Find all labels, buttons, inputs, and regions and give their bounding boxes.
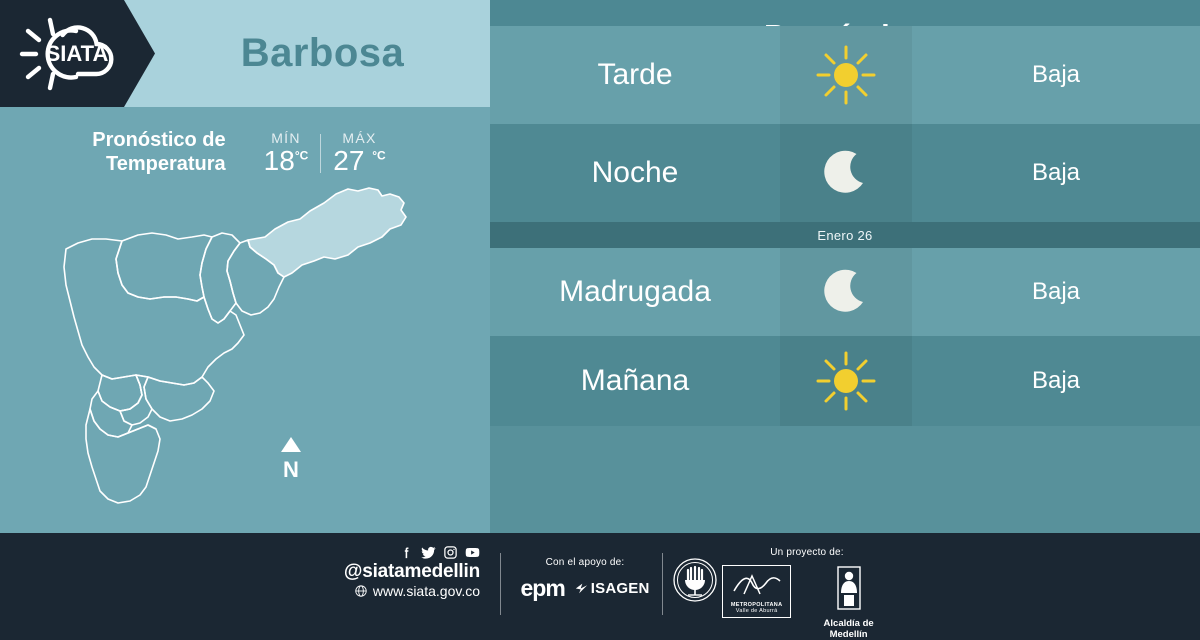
- forecast-period: Tarde: [490, 58, 780, 92]
- amva-caption-2: Valle de Aburrá: [727, 608, 786, 614]
- date-band-day2: Enero 26: [490, 222, 1200, 248]
- footer: @siatamedellin www.siata.gov.co Con el a…: [0, 533, 1200, 630]
- forecast-row[interactable]: Noche Baja: [490, 124, 1200, 222]
- instagram-icon[interactable]: [443, 545, 458, 560]
- siata-logo-text: SIATA: [46, 41, 109, 66]
- map-region-caldas[interactable]: [86, 409, 160, 503]
- support-block: Con el apoyo de: epm ISAGEN: [510, 557, 660, 602]
- amva-signature-icon: [730, 571, 784, 597]
- twitter-icon[interactable]: [421, 545, 436, 560]
- forecast-icon-cell: [780, 248, 912, 336]
- support-caption: Con el apoyo de:: [510, 557, 660, 568]
- isagen-mark-icon: [575, 582, 588, 595]
- moon-icon: [818, 264, 874, 320]
- project-caption: Un proyecto de:: [722, 547, 892, 558]
- north-arrow-icon: N: [274, 435, 308, 481]
- temperature-title-line2: Temperatura: [92, 152, 225, 176]
- map-region-sabaneta[interactable]: [120, 375, 152, 425]
- forecast-probability: Baja: [912, 278, 1200, 306]
- forecast-row[interactable]: Tarde Baja: [490, 26, 1200, 124]
- temperature-max-value: 27 °C: [333, 147, 385, 175]
- weather-forecast-poster: SIATA Barbosa Pronóstico de Temperatura …: [0, 0, 1200, 630]
- globe-icon: [354, 584, 368, 598]
- forecast-probability: Baja: [912, 159, 1200, 187]
- website-text: www.siata.gov.co: [373, 583, 480, 600]
- sun-cloud-icon: SIATA: [14, 14, 140, 94]
- alcaldia-logo: Alcaldía de Medellín: [805, 565, 892, 640]
- aburra-valley-map: [52, 177, 442, 527]
- temperature-values: MÍN 18°C MÁX 27 °C: [252, 130, 398, 175]
- temperature-max-unit: °C: [372, 148, 385, 162]
- temperature-max: MÁX 27 °C: [321, 130, 397, 175]
- support-logos: epm ISAGEN: [510, 575, 660, 602]
- forecast-period: Madrugada: [490, 275, 780, 309]
- website-link[interactable]: www.siata.gov.co: [330, 583, 480, 600]
- forecast-probability: Baja: [912, 61, 1200, 89]
- footer-divider-1: [500, 553, 501, 615]
- moon-icon: [818, 145, 874, 201]
- social-icons: [330, 545, 480, 560]
- temperature-max-label: MÁX: [342, 130, 376, 146]
- left-panel: SIATA Barbosa Pronóstico de Temperatura …: [0, 0, 490, 533]
- project-block: Un proyecto de: METROPOLITANA Valle de A…: [722, 547, 892, 640]
- precipitation-panel: Pronósticode Precipitación Enero 25 Tard…: [490, 0, 1200, 533]
- temperature-min-value: 18°C: [264, 147, 309, 175]
- epm-logo: epm: [520, 575, 564, 602]
- page-title: Barbosa: [155, 0, 490, 107]
- brand-bar: SIATA Barbosa: [0, 0, 490, 107]
- forecast-row[interactable]: Madrugada Baja: [490, 248, 1200, 336]
- temperature-header: Pronóstico de Temperatura MÍN 18°C MÁX 2…: [0, 121, 490, 183]
- forecast-row[interactable]: Mañana Baja: [490, 336, 1200, 426]
- map-region-envigado[interactable]: [144, 377, 214, 421]
- temperature-title: Pronóstico de Temperatura: [92, 128, 225, 177]
- udea-seal-icon: [672, 557, 718, 603]
- sun-icon: [815, 44, 877, 106]
- alcaldia-label: Alcaldía de Medellín: [805, 618, 892, 640]
- forecast-period: Mañana: [490, 364, 780, 398]
- north-arrow-label: N: [283, 457, 299, 481]
- facebook-icon[interactable]: [399, 545, 414, 560]
- social-block: @siatamedellin www.siata.gov.co: [330, 545, 480, 600]
- forecast-probability: Baja: [912, 367, 1200, 395]
- udea-logo: [672, 557, 718, 608]
- sun-icon: [815, 350, 877, 412]
- temperature-min-unit: °C: [295, 148, 308, 162]
- forecast-icon-cell: [780, 26, 912, 124]
- map-panel: Pronóstico de Temperatura MÍN 18°C MÁX 2…: [0, 107, 490, 533]
- map-region-laestrella[interactable]: [90, 391, 132, 437]
- map-region-bello[interactable]: [116, 233, 212, 301]
- project-logos: METROPOLITANA Valle de Aburrá Alcaldía d…: [722, 565, 892, 640]
- map-region-medellin[interactable]: [64, 239, 244, 385]
- temperature-title-line1: Pronóstico de: [92, 128, 225, 152]
- social-handle[interactable]: @siatamedellin: [330, 562, 480, 583]
- temperature-min: MÍN 18°C: [252, 130, 321, 175]
- forecast-icon-cell: [780, 124, 912, 222]
- alcaldia-crest-icon: [832, 565, 866, 611]
- isagen-logo: ISAGEN: [575, 580, 650, 597]
- youtube-icon[interactable]: [465, 545, 480, 560]
- amva-logo: METROPOLITANA Valle de Aburrá: [722, 565, 791, 618]
- forecast-icon-cell: [780, 336, 912, 426]
- forecast-period: Noche: [490, 156, 780, 190]
- map-region-copacabana[interactable]: [200, 233, 240, 323]
- temperature-min-label: MÍN: [271, 130, 301, 146]
- footer-divider-2: [662, 553, 663, 615]
